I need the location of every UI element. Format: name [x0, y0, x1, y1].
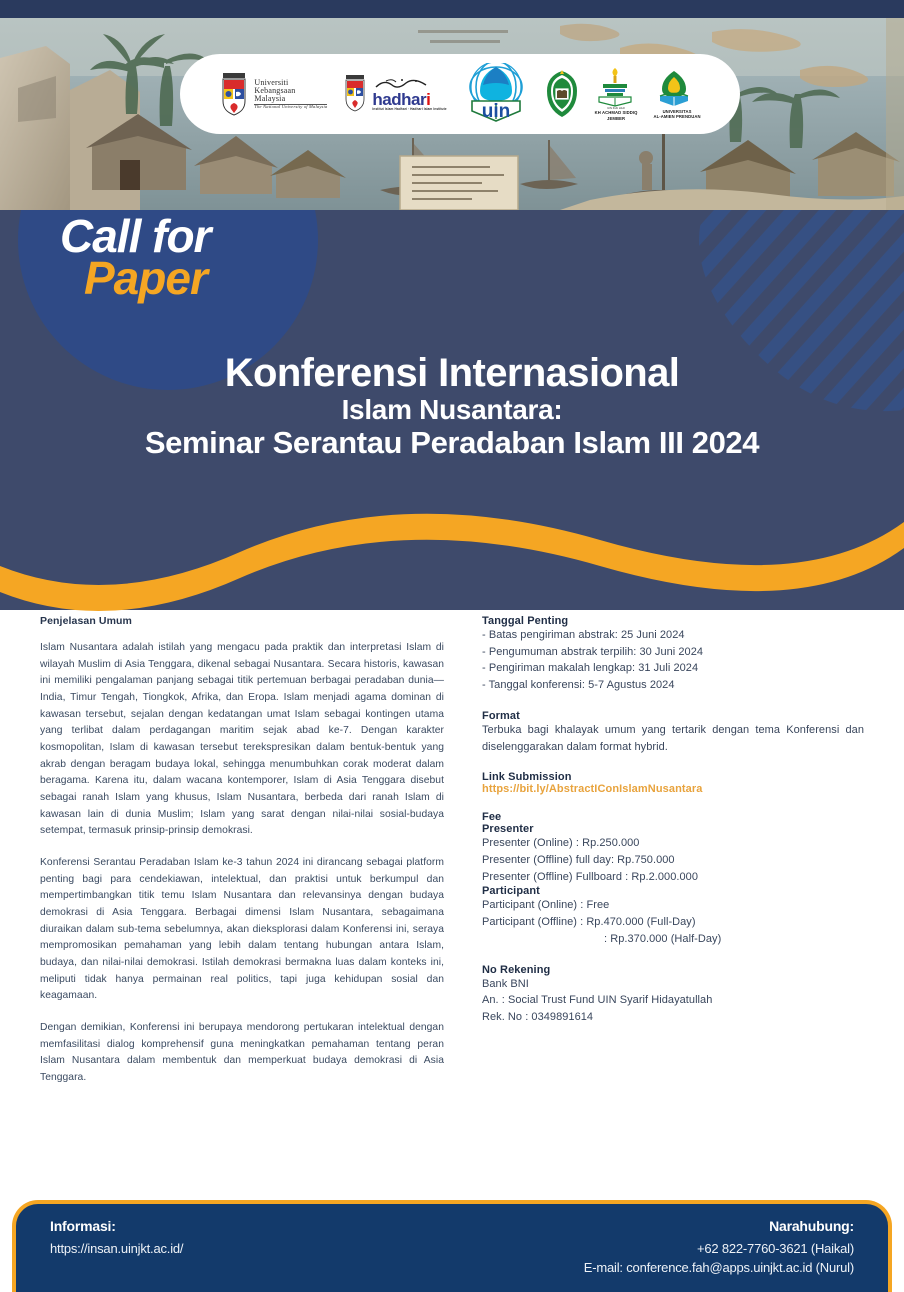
- date-item: - Pengiriman makalah lengkap: 31 Juli 20…: [482, 660, 864, 677]
- contact-phone[interactable]: +62 822-7760-3621 (Haikal): [584, 1240, 854, 1259]
- presenter-heading: Presenter: [482, 823, 864, 835]
- fee-row: Participant (Online) : Free: [482, 897, 864, 914]
- footer-contact-block: Narahubung: +62 822-7760-3621 (Haikal) E…: [584, 1218, 854, 1278]
- kh-caption1: KH ACHMAD SIDDIQ: [595, 110, 638, 115]
- ukm-line3: Malaysia: [254, 95, 327, 103]
- rekening-row: Rek. No : 0349891614: [482, 1009, 864, 1026]
- alamien-caption2: AL-AMIEN PRENDUAN: [654, 114, 701, 119]
- fee-row: Presenter (Offline) full day: Rp.750.000: [482, 852, 864, 869]
- hadhari-logo: hadhari Institut Islam Hadhari · Hadhari…: [343, 74, 446, 114]
- submission-link[interactable]: https://bit.ly/AbstractIConIslamNusantar…: [482, 783, 864, 795]
- paragraph-3: Dengan demikian, Konferensi ini berupaya…: [40, 1020, 444, 1087]
- paragraph-1: Islam Nusantara adalah istilah yang meng…: [40, 640, 444, 840]
- fee-row: Participant (Offline) : Rp.470.000 (Full…: [482, 914, 864, 931]
- fee-heading: Fee: [482, 811, 864, 823]
- footer-bar: Informasi: https://insan.uinjkt.ac.id/ N…: [12, 1200, 892, 1292]
- call-for-paper-heading: Call for Paper: [60, 215, 210, 300]
- title-line-1: Konferensi Internasional: [0, 352, 904, 394]
- rekening-row: Bank BNI: [482, 976, 864, 993]
- fee-row: Presenter (Online) : Rp.250.000: [482, 835, 864, 852]
- alamien-caption1: UNIVERSITAS: [663, 109, 692, 114]
- fee-row-indent: : Rp.370.000 (Half-Day): [482, 931, 864, 948]
- title-line-3: Seminar Serantau Peradaban Islam III 202…: [0, 426, 904, 461]
- ukm-subtitle: The National University of Malaysia: [254, 104, 327, 110]
- content-area: Penjelasan Umum Islam Nusantara adalah i…: [0, 615, 904, 1195]
- svg-text:uin: uin: [481, 101, 510, 122]
- green-dome-book-icon: [654, 69, 694, 109]
- arabic-calligraphy-icon: [372, 77, 432, 91]
- top-navy-strip: [0, 0, 904, 18]
- wave-shape-icon: [0, 470, 904, 630]
- fee-row: Presenter (Offline) Fullboard : Rp.2.000…: [482, 869, 864, 886]
- left-column: Penjelasan Umum Islam Nusantara adalah i…: [40, 615, 444, 1102]
- hadhari-subtitle: Institut Islam Hadhari · Hadhari Islam I…: [372, 108, 446, 111]
- footer-info-block: Informasi: https://insan.uinjkt.ac.id/: [50, 1218, 183, 1259]
- right-column: Tanggal Penting - Batas pengiriman abstr…: [482, 615, 864, 1102]
- paper-label: Paper: [84, 257, 210, 299]
- kh-caption2: JEMBER: [607, 116, 625, 121]
- green-shield-emblem-icon: [545, 69, 579, 119]
- ukm-logo: UniversitiKebangsaanMalaysia The Nationa…: [219, 71, 327, 117]
- link-submission-heading: Link Submission: [482, 771, 864, 783]
- participant-heading: Participant: [482, 885, 864, 897]
- kh-achmad-siddiq-logo: UIN KIAI HAJI KH ACHMAD SIDDIQ JEMBER: [595, 67, 638, 121]
- narahubung-heading: Narahubung:: [584, 1218, 854, 1234]
- torch-book-icon: [595, 67, 635, 107]
- hadhari-crest-icon: [343, 74, 367, 114]
- uin-dome-book-icon: uin: [463, 63, 529, 125]
- wave-divider: [0, 470, 904, 630]
- conference-title: Konferensi Internasional Islam Nusantara…: [0, 352, 904, 460]
- title-line-2: Islam Nusantara:: [0, 394, 904, 425]
- date-item: - Pengumuman abstrak terpilih: 30 Juni 2…: [482, 644, 864, 661]
- rekening-row: An. : Social Trust Fund UIN Syarif Hiday…: [482, 992, 864, 1009]
- al-amien-prenduan-logo: UNIVERSITAS AL-AMIEN PRENDUAN: [654, 69, 701, 120]
- uin-logo: uin: [463, 63, 529, 125]
- date-item: - Tanggal konferensi: 5-7 Agustus 2024: [482, 677, 864, 694]
- format-heading: Format: [482, 710, 864, 722]
- format-text: Terbuka bagi khalayak umum yang tertarik…: [482, 722, 864, 755]
- ukm-crest-icon: [219, 71, 249, 117]
- call-for-label: Call for: [60, 215, 210, 257]
- logo-bar: UniversitiKebangsaanMalaysia The Nationa…: [180, 54, 740, 134]
- informasi-url[interactable]: https://insan.uinjkt.ac.id/: [50, 1240, 183, 1259]
- informasi-heading: Informasi:: [50, 1218, 183, 1234]
- no-rekening-heading: No Rekening: [482, 964, 864, 976]
- paragraph-2: Konferensi Serantau Peradaban Islam ke-3…: [40, 855, 444, 1005]
- green-emblem-logo: [545, 69, 579, 119]
- contact-email[interactable]: E-mail: conference.fah@apps.uinjkt.ac.id…: [584, 1259, 854, 1278]
